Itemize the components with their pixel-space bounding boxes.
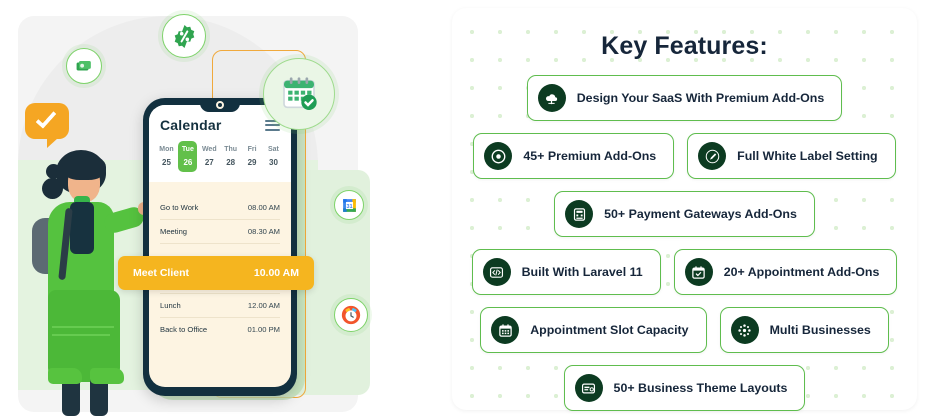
calendar-week-strip: Mon 25 Tue 26 Wed 27 Thu 28: [149, 137, 291, 182]
feature-row: Design Your SaaS With Premium Add-Ons: [466, 75, 903, 121]
week-day[interactable]: Fri 29: [243, 141, 262, 172]
week-day-name: Mon: [157, 144, 176, 156]
calendar-grid-icon: [491, 316, 519, 344]
phone-mockup: Calendar Mon 25 Tue 26 Wed: [143, 98, 297, 396]
paint-brush-icon: [698, 142, 726, 170]
alarm-clock-icon: [334, 298, 368, 332]
feature-label: 45+ Premium Add-Ons: [523, 149, 656, 163]
week-day-name: Sat: [264, 144, 283, 156]
agenda-title: Go to Work: [160, 203, 198, 212]
feature-label: Design Your SaaS With Premium Add-Ons: [577, 91, 825, 105]
feature-pill[interactable]: Appointment Slot Capacity: [480, 307, 706, 353]
week-day-number: 28: [221, 156, 240, 169]
promo-banner: Calendar Mon 25 Tue 26 Wed: [0, 0, 925, 418]
feature-pill[interactable]: Full White Label Setting: [687, 133, 895, 179]
week-day-name: Thu: [221, 144, 240, 156]
feature-label: Appointment Slot Capacity: [530, 323, 688, 337]
feature-row: 50+ Business Theme Layouts: [466, 365, 903, 411]
feature-row: Appointment Slot Capacity Multi Business…: [466, 307, 903, 353]
week-day-name: Tue: [178, 144, 197, 156]
inner-shirt-shape: [70, 202, 94, 254]
highlighted-event-meet-client[interactable]: Meet Client 10.00 AM: [118, 256, 314, 290]
week-day-name: Wed: [200, 144, 219, 156]
agenda-time: 12.00 AM: [248, 301, 280, 310]
agenda-row[interactable]: Lunch 12.00 AM: [160, 294, 280, 318]
feature-row: 45+ Premium Add-Ons Full White Label Set…: [466, 133, 903, 179]
payment-cards-icon: [66, 48, 102, 84]
network-nodes-icon: [731, 316, 759, 344]
agenda-row[interactable]: Go to Work 08.00 AM: [160, 196, 280, 220]
payment-terminal-icon: [565, 200, 593, 228]
highlighted-event-time: 10.00 AM: [254, 267, 299, 279]
feature-pill[interactable]: Multi Businesses: [720, 307, 889, 353]
calendar-app-title: Calendar: [160, 117, 222, 133]
week-day-number: 26: [178, 156, 197, 169]
feature-pill[interactable]: Built With Laravel 11: [472, 249, 661, 295]
week-day[interactable]: Wed 27: [200, 141, 219, 172]
week-day-number: 27: [200, 156, 219, 169]
feature-row: Built With Laravel 11 20+ Appointment Ad…: [466, 249, 903, 295]
agenda-title: Meeting: [160, 227, 187, 236]
week-day[interactable]: Sat 30: [264, 141, 283, 172]
checkmark-icon: [36, 107, 57, 129]
agenda-title: Lunch: [160, 301, 181, 310]
google-calendar-icon: 31: [334, 190, 364, 220]
feature-pill-rows: Design Your SaaS With Premium Add-Ons 45…: [452, 61, 917, 411]
feature-pill[interactable]: 45+ Premium Add-Ons: [473, 133, 674, 179]
feature-pill[interactable]: Design Your SaaS With Premium Add-Ons: [527, 75, 843, 121]
feature-pill[interactable]: 50+ Payment Gateways Add-Ons: [554, 191, 815, 237]
discount-percent-icon: [162, 14, 206, 58]
phone-screen: Calendar Mon 25 Tue 26 Wed: [149, 105, 291, 387]
svg-text:31: 31: [346, 203, 352, 209]
hair-front-shape: [62, 154, 106, 180]
week-day-selected[interactable]: Tue 26: [178, 141, 197, 172]
cloud-saas-icon: [538, 84, 566, 112]
highlighted-event-title: Meet Client: [133, 267, 189, 279]
feature-label: Multi Businesses: [770, 323, 871, 337]
feature-pill[interactable]: 50+ Business Theme Layouts: [564, 365, 806, 411]
week-day-number: 29: [243, 156, 262, 169]
page-title: Key Features:: [452, 8, 917, 61]
theme-card-icon: [575, 374, 603, 402]
checkmark-speech-bubble: [25, 103, 69, 139]
agenda-title: Back to Office: [160, 325, 207, 334]
agenda-time: 01.00 PM: [247, 325, 280, 334]
calendar-check-icon: [685, 258, 713, 286]
feature-label: Full White Label Setting: [737, 149, 877, 163]
code-brackets-icon: [483, 258, 511, 286]
agenda-row[interactable]: Back to Office 01.00 PM: [160, 318, 280, 341]
agenda-time: 08.30 AM: [248, 227, 280, 236]
phone-camera-icon: [216, 101, 224, 109]
feature-pill[interactable]: 20+ Appointment Add-Ons: [674, 249, 898, 295]
feature-label: 50+ Business Theme Layouts: [614, 381, 788, 395]
week-day[interactable]: Mon 25: [157, 141, 176, 172]
week-day[interactable]: Thu 28: [221, 141, 240, 172]
shoe-shape-left: [48, 368, 82, 384]
coat-seam-line: [52, 326, 114, 328]
agenda-time: 08.00 AM: [248, 203, 280, 212]
week-day-number: 30: [264, 156, 283, 169]
key-features-panel: Key Features: Design Your SaaS With Prem…: [452, 8, 917, 410]
left-illustration-panel: Calendar Mon 25 Tue 26 Wed: [0, 0, 440, 418]
shoe-shape-right: [90, 368, 124, 384]
week-day-name: Fri: [243, 144, 262, 156]
target-dot-icon: [484, 142, 512, 170]
calendar-check-icon: [263, 58, 335, 130]
feature-label: Built With Laravel 11: [522, 265, 643, 279]
feature-row: 50+ Payment Gateways Add-Ons: [466, 191, 903, 237]
feature-label: 50+ Payment Gateways Add-Ons: [604, 207, 797, 221]
agenda-row[interactable]: Meeting 08.30 AM: [160, 220, 280, 244]
feature-label: 20+ Appointment Add-Ons: [724, 265, 880, 279]
coat-seam-line-secondary: [52, 334, 110, 336]
week-day-number: 25: [157, 156, 176, 169]
